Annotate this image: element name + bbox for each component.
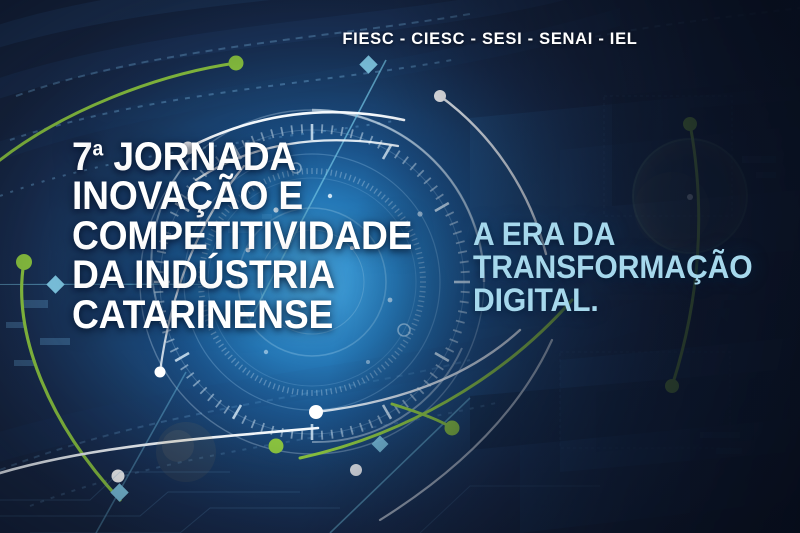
headline-line-4: DA INDÚSTRIA	[72, 256, 444, 295]
headline-line-1-rest: JORNADA	[103, 135, 296, 179]
lens-flare-secondary	[156, 422, 216, 482]
poster-canvas: FIESC - CIESC - SESI - SENAI - IEL 7a JO…	[0, 0, 800, 533]
edition-number: 7	[72, 135, 93, 179]
event-tagline: A ERA DA TRANSFORMAÇÃO DIGITAL.	[473, 218, 774, 317]
partner-organisations-text: FIESC - CIESC - SESI - SENAI - IEL	[342, 30, 637, 49]
tagline-line-3: DIGITAL.	[473, 284, 774, 317]
headline-line-2: INOVAÇÃO E	[72, 177, 444, 216]
tagline-line-2: TRANSFORMAÇÃO	[473, 251, 774, 284]
tagline-line-1: A ERA DA	[473, 218, 774, 251]
circuit-traces	[0, 472, 600, 533]
event-headline: 7a JORNADA INOVAÇÃO E COMPETITIVIDADE DA…	[72, 138, 444, 335]
headline-line-1: 7a JORNADA	[72, 138, 444, 177]
headline-line-3: COMPETITIVIDADE	[72, 217, 444, 256]
headline-line-5: CATARINENSE	[72, 296, 444, 335]
ordinal-suffix: a	[93, 138, 104, 161]
partner-organisations-line: FIESC - CIESC - SESI - SENAI - IEL	[0, 30, 800, 49]
